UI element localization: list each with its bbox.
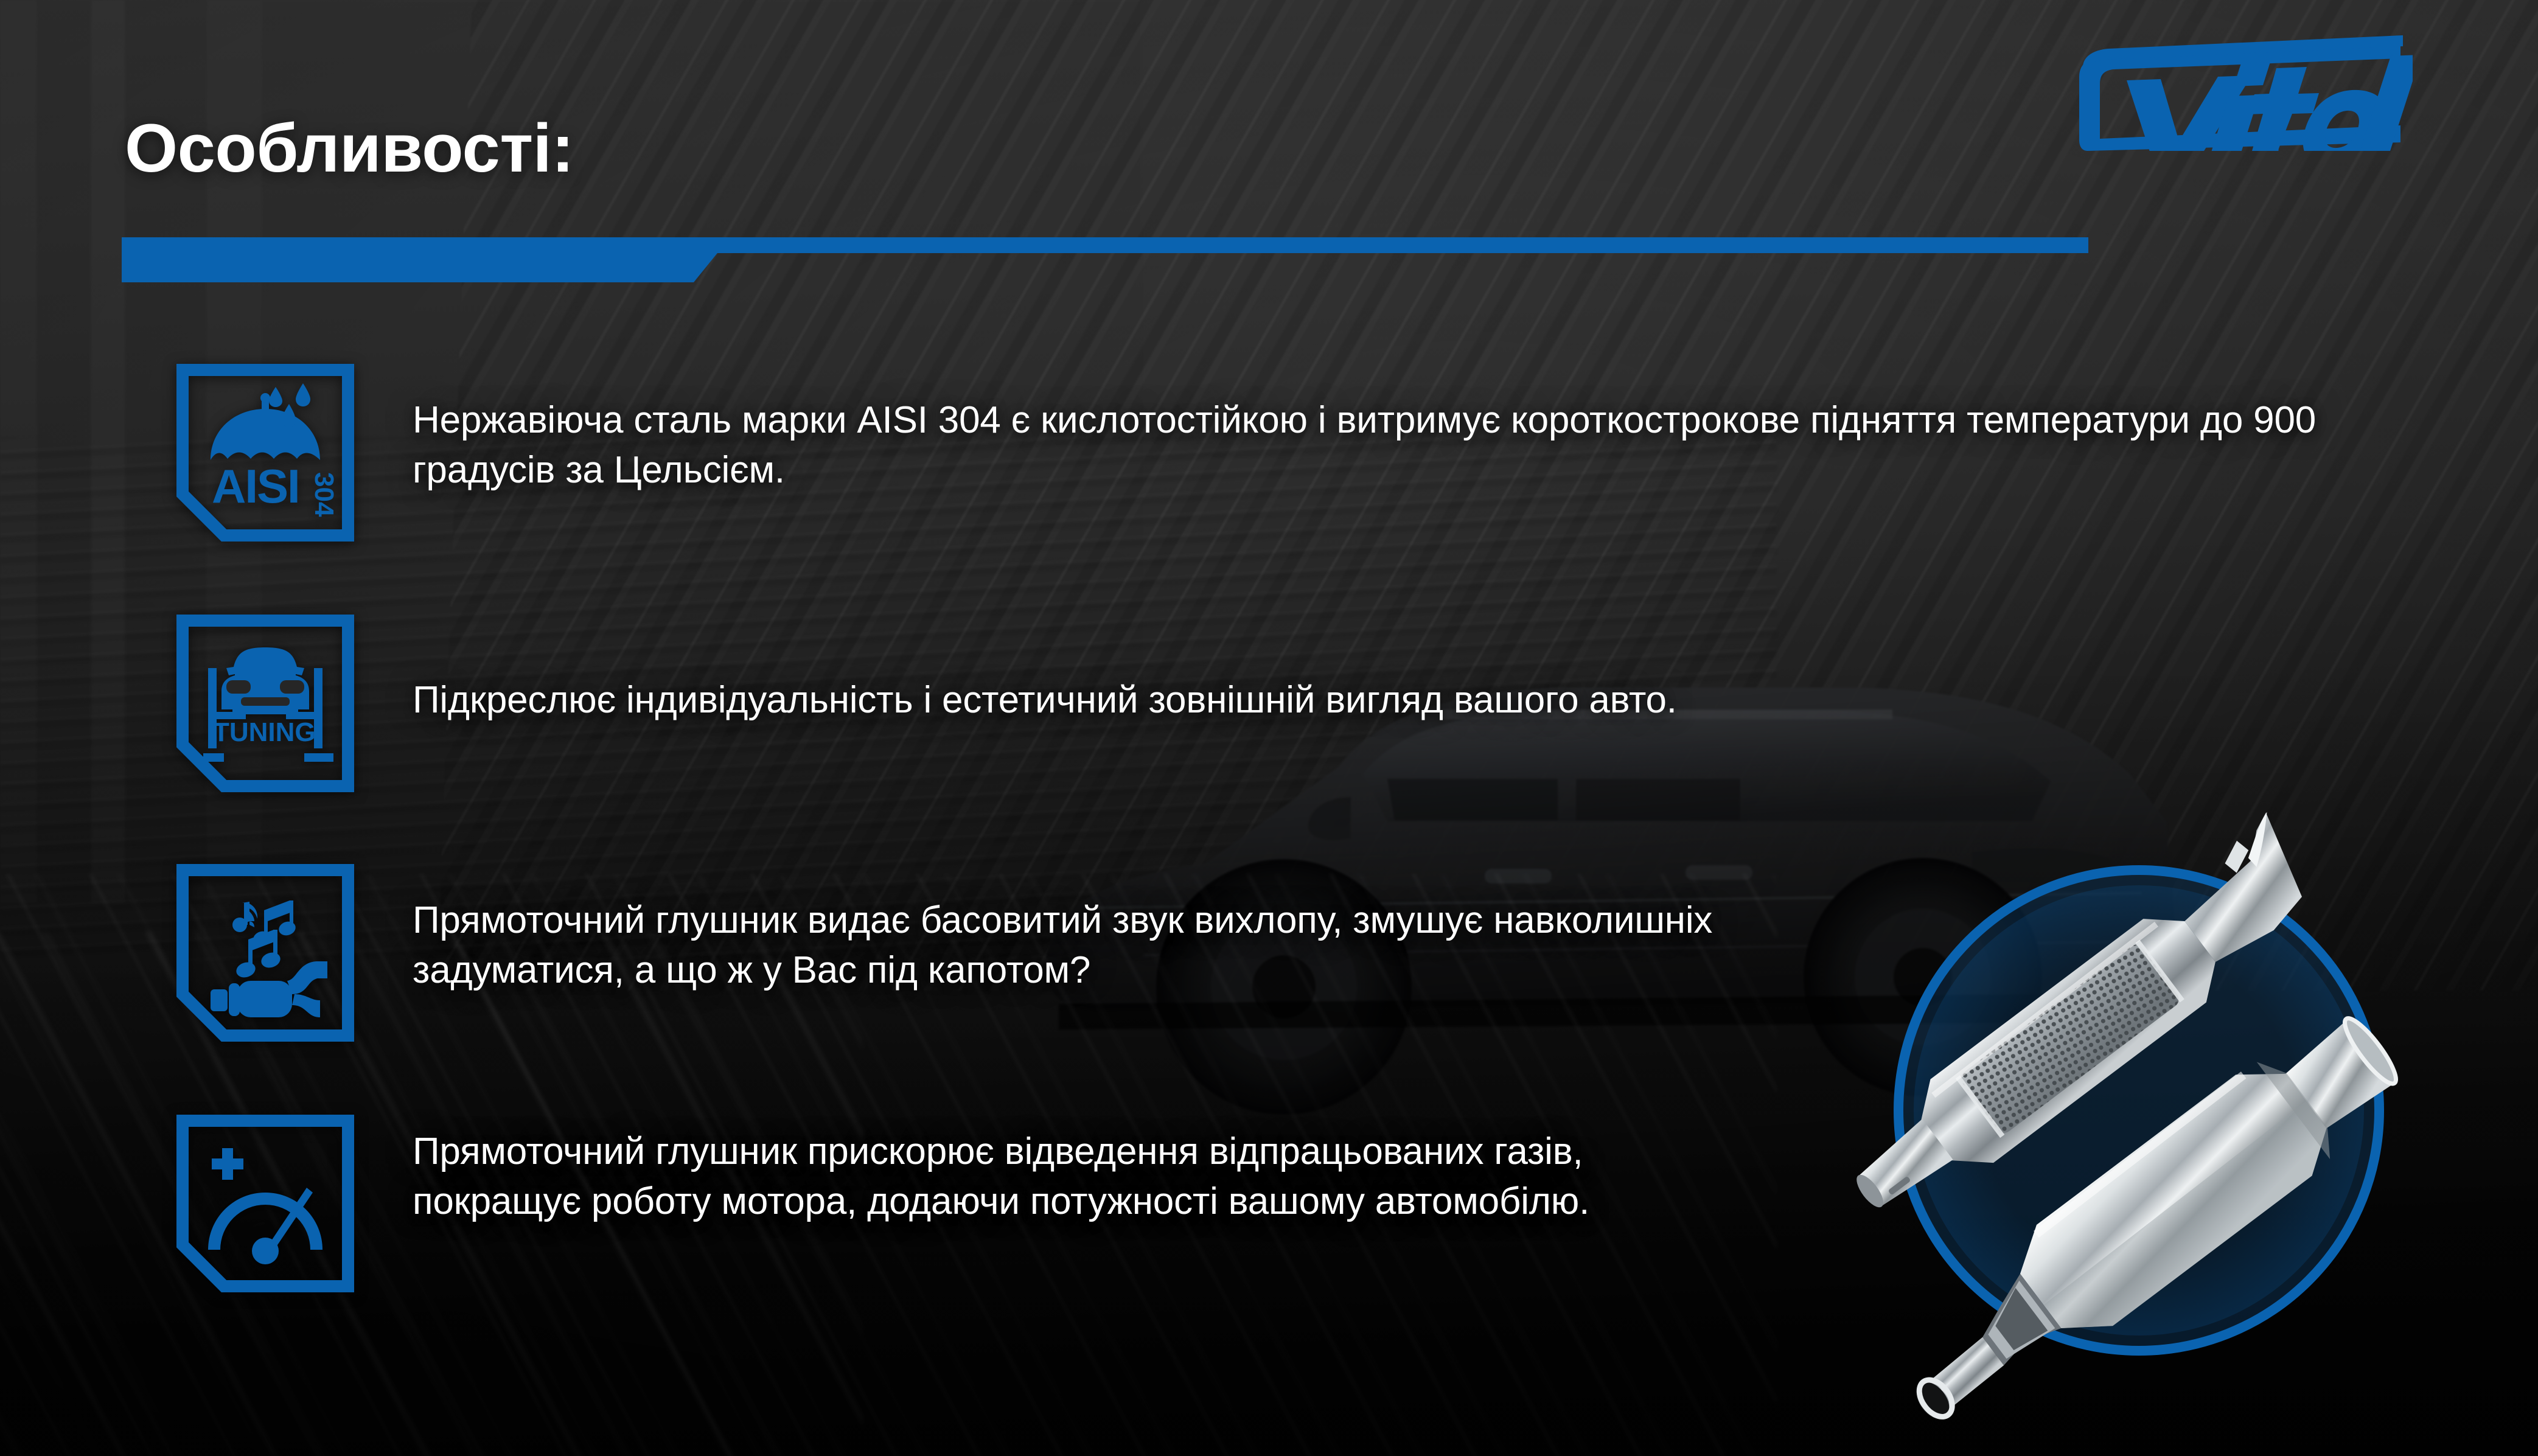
aisi-caption: AISI — [212, 459, 299, 513]
speedometer-plus-icon — [176, 1115, 354, 1292]
tuning-car-lift-icon: TUNING — [176, 615, 354, 792]
feature-item-power: Прямоточний глушник прискорює відведення… — [176, 1115, 1727, 1292]
aisi-304-umbrella-icon: AISI 304 — [176, 364, 354, 542]
feature-item-aisi-304: AISI 304 Нержавіюча сталь марки AISI 304… — [176, 364, 2402, 542]
aisi-grade-caption: 304 — [309, 472, 339, 517]
tuning-caption: TUNING — [213, 717, 316, 747]
slide-root: Особливості: — [0, 0, 2538, 1456]
feature-item-sound: Прямоточний глушник видає басовитий звук… — [176, 864, 1800, 1042]
feature-text-aisi-304: Нержавіюча сталь марки AISI 304 є кислот… — [413, 395, 2402, 495]
muffler-music-notes-icon — [176, 864, 354, 1042]
feature-text-tuning: Підкреслює індивідуальність і естетичний… — [413, 675, 2092, 725]
feature-item-tuning: TUNING Підкреслює індивідуальність і ест… — [176, 615, 2092, 792]
feature-text-power: Прямоточний глушник прискорює відведення… — [413, 1127, 1727, 1227]
product-image-mufflers — [1783, 779, 2501, 1424]
feature-text-sound: Прямоточний глушник видає басовитий звук… — [413, 896, 1800, 995]
